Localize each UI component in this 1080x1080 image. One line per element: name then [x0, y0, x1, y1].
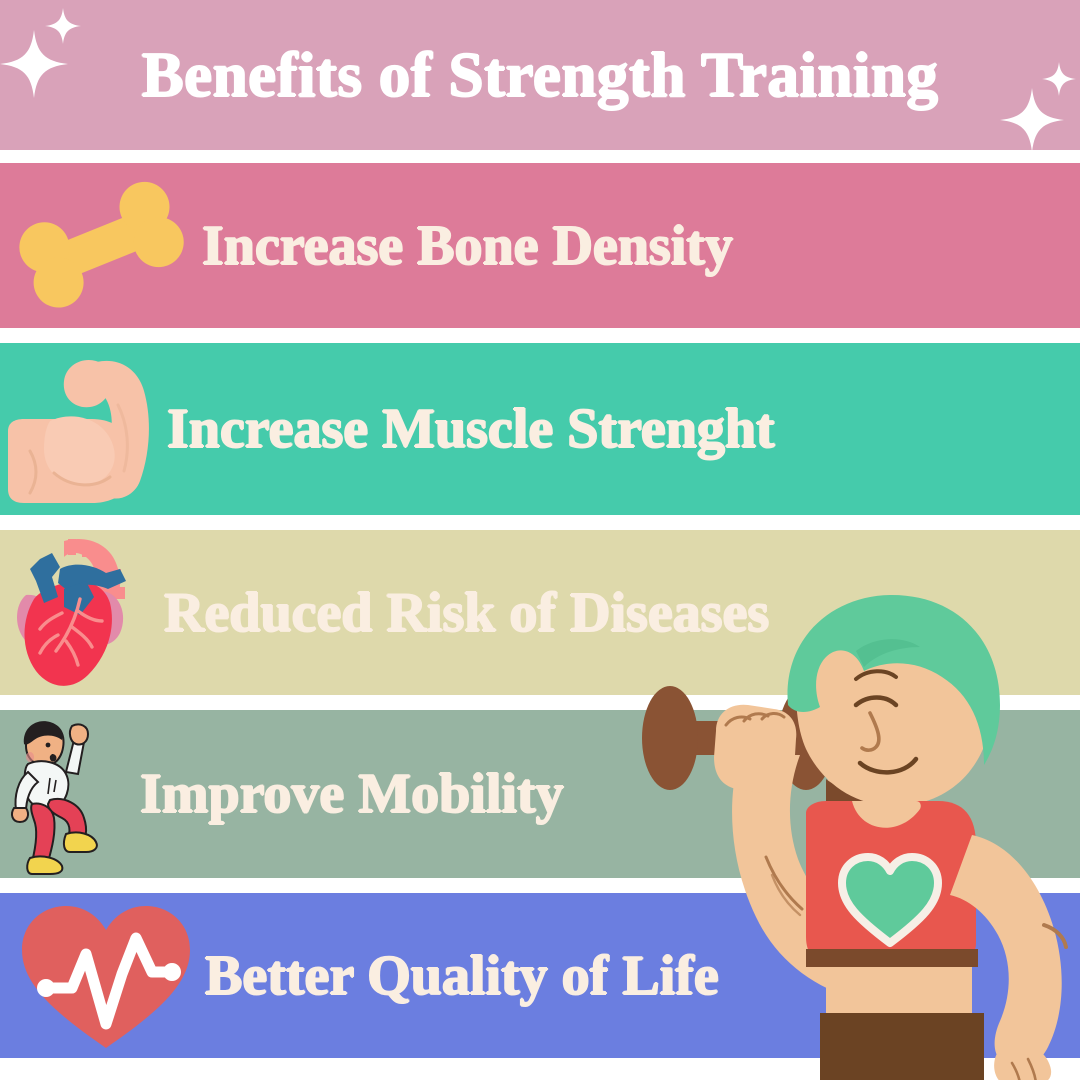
bone-icon — [6, 176, 196, 316]
benefit-label: Reduced Risk of Diseases — [164, 581, 769, 645]
bone-icon-wrap — [6, 176, 196, 316]
benefit-label: Increase Muscle Strenght — [167, 397, 775, 461]
benefit-row-improve-mobility: Improve Mobility — [0, 710, 1080, 878]
heartbeat-heart-icon — [14, 896, 199, 1056]
person-stretching-icon — [4, 712, 124, 877]
title-band: Benefits of Strength Training — [0, 0, 1080, 150]
benefit-label: Increase Bone Density — [202, 214, 733, 278]
anatomical-heart-icon-wrap — [2, 533, 142, 693]
benefit-row-quality-of-life: Better Quality of Life — [0, 893, 1080, 1058]
flexed-bicep-icon-wrap — [0, 347, 165, 512]
page-title: Benefits of Strength Training — [0, 0, 1080, 150]
benefit-label: Improve Mobility — [140, 762, 564, 826]
benefit-row-bone-density: Increase Bone Density — [0, 163, 1080, 328]
benefit-label: Better Quality of Life — [205, 944, 719, 1008]
flexed-bicep-icon — [0, 347, 165, 512]
benefit-row-muscle-strength: Increase Muscle Strenght — [0, 343, 1080, 515]
benefit-row-reduced-risk: Reduced Risk of Diseases — [0, 530, 1080, 695]
infographic-poster: Benefits of Strength Training Increase B… — [0, 0, 1080, 1080]
anatomical-heart-icon — [2, 533, 142, 693]
heartbeat-heart-icon-wrap — [14, 896, 199, 1056]
person-stretching-icon-wrap — [4, 712, 124, 877]
